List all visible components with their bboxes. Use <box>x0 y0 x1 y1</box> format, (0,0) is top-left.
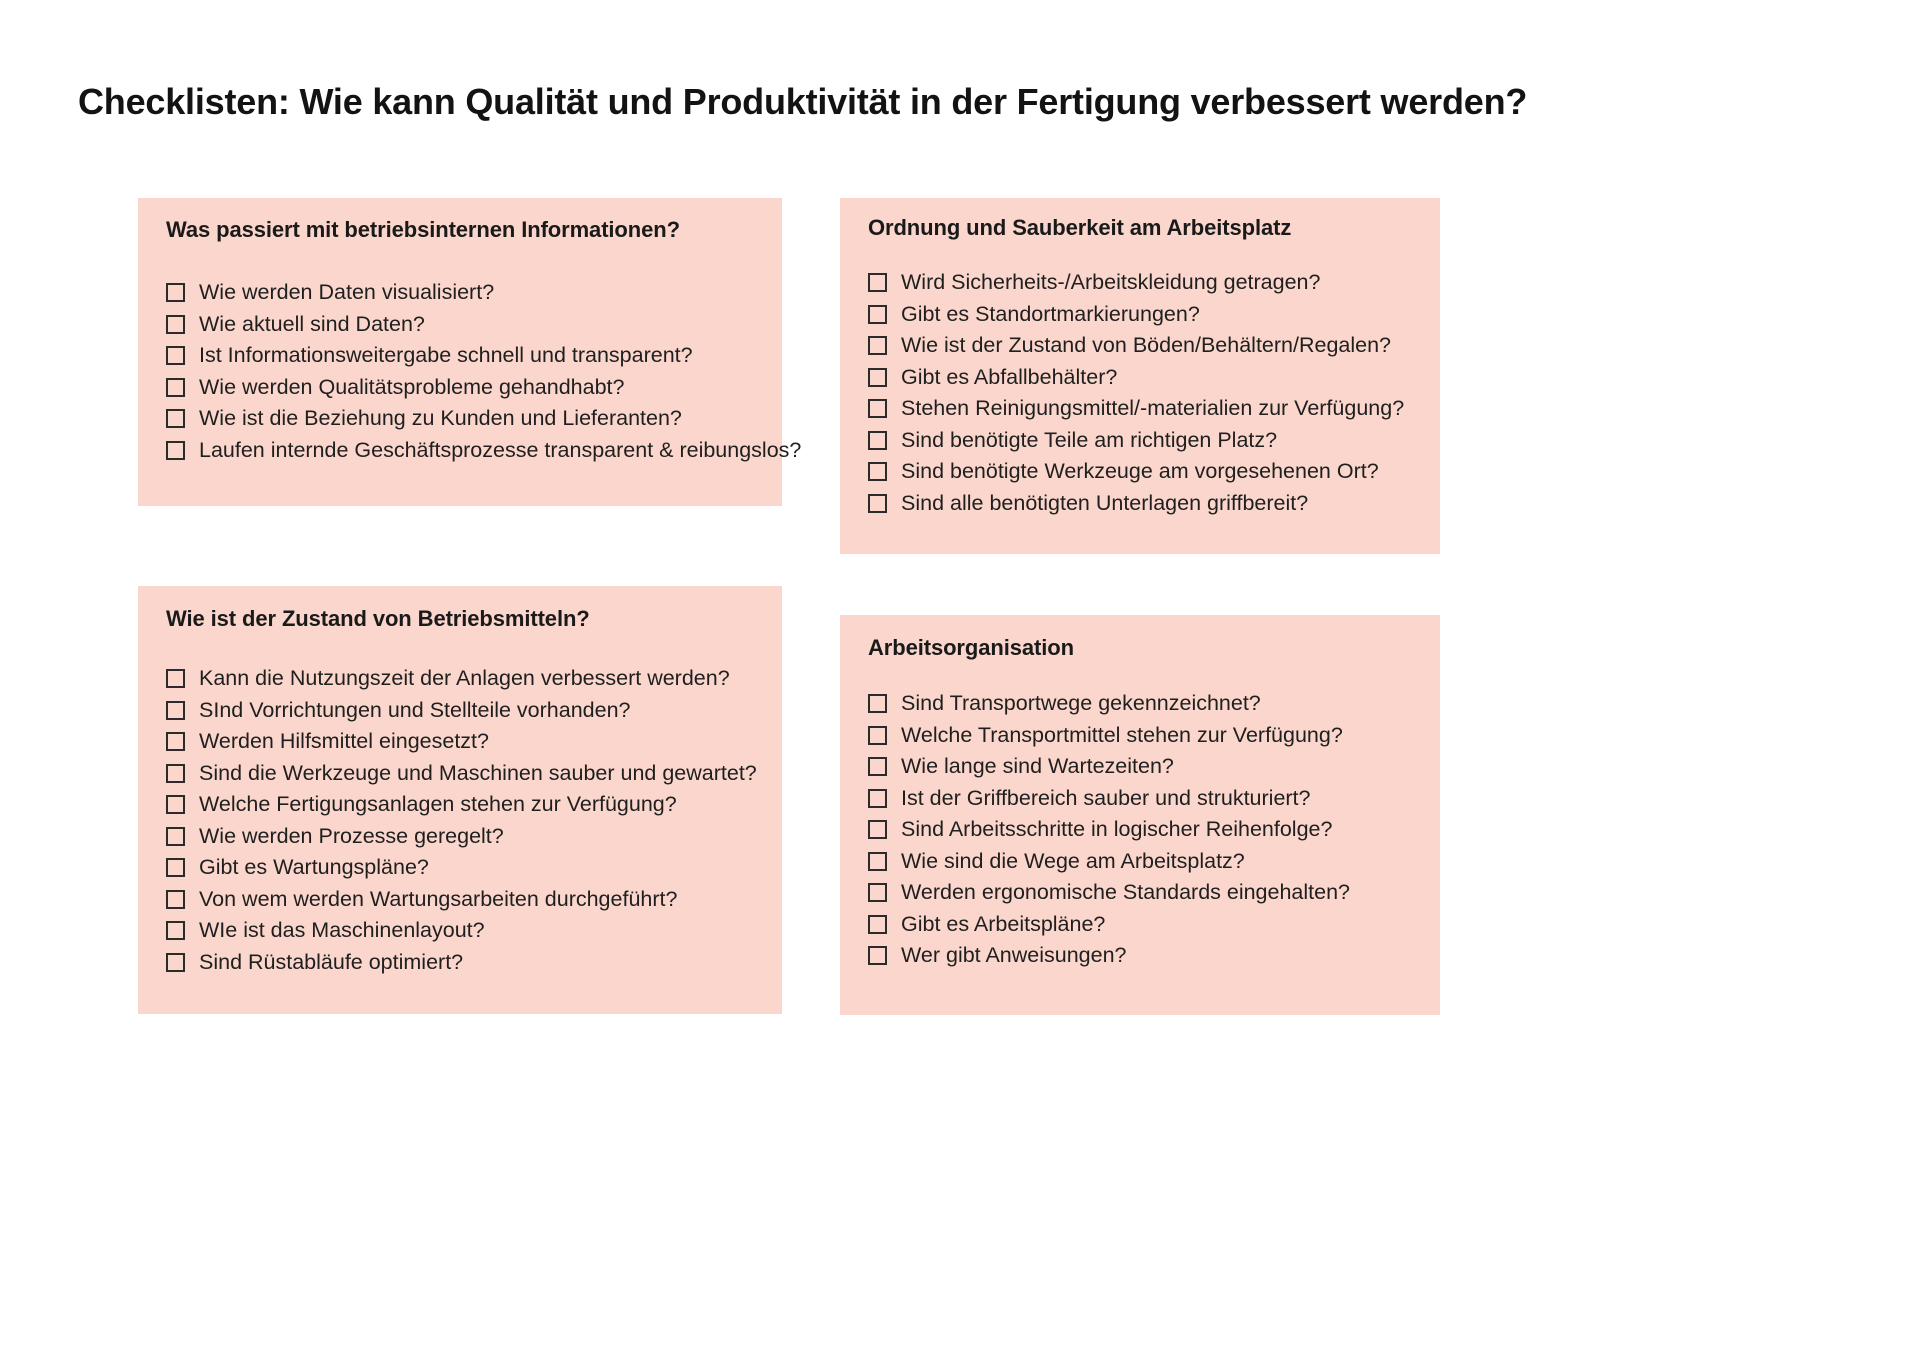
checkbox-icon[interactable] <box>868 399 887 418</box>
checkbox-icon[interactable] <box>868 757 887 776</box>
checklist-item-label: SInd Vorrichtungen und Stellteile vorhan… <box>199 698 631 722</box>
checklist-item[interactable]: Wie ist der Zustand von Böden/Behältern/… <box>868 333 1404 357</box>
checklist-items-information: Wie werden Daten visualisiert? Wie aktue… <box>166 280 801 469</box>
checklist-item[interactable]: Wie aktuell sind Daten? <box>166 312 801 336</box>
checklist-item-label: Wie ist die Beziehung zu Kunden und Lief… <box>199 406 682 430</box>
checklist-item-label: Welche Transportmittel stehen zur Verfüg… <box>901 723 1343 747</box>
checklist-item-label: Wie werden Qualitätsprobleme gehandhabt? <box>199 375 625 399</box>
checkbox-icon[interactable] <box>166 795 185 814</box>
checklist-item-label: Werden Hilfsmittel eingesetzt? <box>199 729 489 753</box>
checkbox-icon[interactable] <box>166 315 185 334</box>
checklist-item[interactable]: Wie werden Qualitätsprobleme gehandhabt? <box>166 375 801 399</box>
checklist-item-label: Sind Transportwege gekennzeichnet? <box>901 691 1261 715</box>
checklist-items-work-organisation: Sind Transportwege gekennzeichnet? Welch… <box>868 691 1350 975</box>
checklist-item-label: Sind Rüstabläufe optimiert? <box>199 950 463 974</box>
checklist-item-label: Wie werden Daten visualisiert? <box>199 280 494 304</box>
checklist-item-label: Sind benötigte Teile am richtigen Platz? <box>901 428 1277 452</box>
checklist-item[interactable]: Wie werden Daten visualisiert? <box>166 280 801 304</box>
checkbox-icon[interactable] <box>868 368 887 387</box>
checkbox-icon[interactable] <box>166 732 185 751</box>
checklist-item-label: Welche Fertigungsanlagen stehen zur Verf… <box>199 792 677 816</box>
checklist-item[interactable]: Werden ergonomische Standards eingehalte… <box>868 880 1350 904</box>
checkbox-icon[interactable] <box>166 701 185 720</box>
checklist-item[interactable]: Welche Fertigungsanlagen stehen zur Verf… <box>166 792 757 816</box>
checklist-item-label: Werden ergonomische Standards eingehalte… <box>901 880 1350 904</box>
checklist-items-order-cleanliness: Wird Sicherheits-/Arbeitskleidung getrag… <box>868 270 1404 522</box>
checklist-item[interactable]: Sind alle benötigten Unterlagen griffber… <box>868 491 1404 515</box>
checklist-item-label: Sind Arbeitsschritte in logischer Reihen… <box>901 817 1332 841</box>
checklist-item-label: Sind benötigte Werkzeuge am vorgesehenen… <box>901 459 1379 483</box>
checkbox-icon[interactable] <box>868 694 887 713</box>
checkbox-icon[interactable] <box>166 827 185 846</box>
checkbox-icon[interactable] <box>166 858 185 877</box>
checklist-item[interactable]: Gibt es Standortmarkierungen? <box>868 302 1404 326</box>
checklist-item[interactable]: Sind benötigte Werkzeuge am vorgesehenen… <box>868 459 1404 483</box>
checklist-item-label: Wie aktuell sind Daten? <box>199 312 425 336</box>
checklist-item-label: Wie ist der Zustand von Böden/Behältern/… <box>901 333 1391 357</box>
checklist-item[interactable]: Sind Arbeitsschritte in logischer Reihen… <box>868 817 1350 841</box>
checklist-item[interactable]: Gibt es Abfallbehälter? <box>868 365 1404 389</box>
checklist-item-label: Von wem werden Wartungsarbeiten durchgef… <box>199 887 677 911</box>
checklist-item[interactable]: Gibt es Arbeitspläne? <box>868 912 1350 936</box>
checkbox-icon[interactable] <box>868 915 887 934</box>
checkbox-icon[interactable] <box>166 409 185 428</box>
checklist-card-equipment: Wie ist der Zustand von Betriebsmitteln?… <box>138 586 782 1014</box>
checklist-item[interactable]: Stehen Reinigungsmittel/-materialien zur… <box>868 396 1404 420</box>
checklist-item-label: WIe ist das Maschinenlayout? <box>199 918 485 942</box>
checklist-item-label: Ist Informationsweitergabe schnell und t… <box>199 343 693 367</box>
card-title-work-organisation: Arbeitsorganisation <box>868 635 1074 661</box>
checkbox-icon[interactable] <box>868 431 887 450</box>
checklist-item[interactable]: Sind Transportwege gekennzeichnet? <box>868 691 1350 715</box>
checklist-item-label: Gibt es Arbeitspläne? <box>901 912 1105 936</box>
checklist-card-order-cleanliness: Ordnung und Sauberkeit am Arbeitsplatz W… <box>840 198 1440 554</box>
checklist-item[interactable]: Sind benötigte Teile am richtigen Platz? <box>868 428 1404 452</box>
checklist-item-label: Stehen Reinigungsmittel/-materialien zur… <box>901 396 1404 420</box>
checklist-item[interactable]: Ist Informationsweitergabe schnell und t… <box>166 343 801 367</box>
checkbox-icon[interactable] <box>868 273 887 292</box>
checkbox-icon[interactable] <box>166 764 185 783</box>
checkbox-icon[interactable] <box>166 669 185 688</box>
checklist-item-label: Sind die Werkzeuge und Maschinen sauber … <box>199 761 757 785</box>
checklist-item-label: Wie sind die Wege am Arbeitsplatz? <box>901 849 1245 873</box>
checklist-item[interactable]: Welche Transportmittel stehen zur Verfüg… <box>868 723 1350 747</box>
checklist-item-label: Gibt es Standortmarkierungen? <box>901 302 1200 326</box>
checkbox-icon[interactable] <box>868 305 887 324</box>
card-title-order-cleanliness: Ordnung und Sauberkeit am Arbeitsplatz <box>868 215 1291 241</box>
checkbox-icon[interactable] <box>166 346 185 365</box>
checklist-item-label: Wird Sicherheits-/Arbeitskleidung getrag… <box>901 270 1320 294</box>
checkbox-icon[interactable] <box>868 789 887 808</box>
checklist-item[interactable]: Von wem werden Wartungsarbeiten durchgef… <box>166 887 757 911</box>
checklist-item[interactable]: Wie werden Prozesse geregelt? <box>166 824 757 848</box>
checkbox-icon[interactable] <box>166 953 185 972</box>
checkbox-icon[interactable] <box>166 890 185 909</box>
checklist-items-equipment: Kann die Nutzungszeit der Anlagen verbes… <box>166 666 757 981</box>
checklist-item[interactable]: Sind die Werkzeuge und Maschinen sauber … <box>166 761 757 785</box>
checkbox-icon[interactable] <box>868 883 887 902</box>
checkbox-icon[interactable] <box>868 726 887 745</box>
checkbox-icon[interactable] <box>868 462 887 481</box>
card-title-equipment: Wie ist der Zustand von Betriebsmitteln? <box>166 606 590 632</box>
checklist-item-label: Ist der Griffbereich sauber und struktur… <box>901 786 1311 810</box>
checklist-item-label: Wie werden Prozesse geregelt? <box>199 824 504 848</box>
checklist-item[interactable]: Wie sind die Wege am Arbeitsplatz? <box>868 849 1350 873</box>
checklist-page: Checklisten: Wie kann Qualität und Produ… <box>0 0 1920 1358</box>
checklist-item-label: Gibt es Wartungspläne? <box>199 855 429 879</box>
checklist-item[interactable]: Sind Rüstabläufe optimiert? <box>166 950 757 974</box>
checkbox-icon[interactable] <box>868 336 887 355</box>
checklist-item[interactable]: Werden Hilfsmittel eingesetzt? <box>166 729 757 753</box>
checkbox-icon[interactable] <box>166 921 185 940</box>
checklist-item[interactable]: Ist der Griffbereich sauber und struktur… <box>868 786 1350 810</box>
checklist-item-label: Wie lange sind Wartezeiten? <box>901 754 1174 778</box>
checkbox-icon[interactable] <box>868 946 887 965</box>
checklist-item[interactable]: Wie lange sind Wartezeiten? <box>868 754 1350 778</box>
checkbox-icon[interactable] <box>868 820 887 839</box>
checklist-item[interactable]: Wie ist die Beziehung zu Kunden und Lief… <box>166 406 801 430</box>
page-title: Checklisten: Wie kann Qualität und Produ… <box>78 81 1527 123</box>
checkbox-icon[interactable] <box>166 378 185 397</box>
checklist-item[interactable]: Wird Sicherheits-/Arbeitskleidung getrag… <box>868 270 1404 294</box>
card-title-information: Was passiert mit betriebsinternen Inform… <box>166 217 680 243</box>
checklist-card-information: Was passiert mit betriebsinternen Inform… <box>138 198 782 506</box>
checkbox-icon[interactable] <box>166 283 185 302</box>
checklist-item-label: Wer gibt Anweisungen? <box>901 943 1127 967</box>
checklist-item[interactable]: Wer gibt Anweisungen? <box>868 943 1350 967</box>
checkbox-icon[interactable] <box>166 441 185 460</box>
checkbox-icon[interactable] <box>868 494 887 513</box>
checklist-item-label: Gibt es Abfallbehälter? <box>901 365 1117 389</box>
checklist-item-label: Kann die Nutzungszeit der Anlagen verbes… <box>199 666 730 690</box>
checklist-item[interactable]: Gibt es Wartungspläne? <box>166 855 757 879</box>
checklist-item-label: Laufen internde Geschäftsprozesse transp… <box>199 438 801 462</box>
checkbox-icon[interactable] <box>868 852 887 871</box>
checklist-item[interactable]: SInd Vorrichtungen und Stellteile vorhan… <box>166 698 757 722</box>
checklist-item[interactable]: WIe ist das Maschinenlayout? <box>166 918 757 942</box>
checklist-item-label: Sind alle benötigten Unterlagen griffber… <box>901 491 1308 515</box>
checklist-card-work-organisation: Arbeitsorganisation Sind Transportwege g… <box>840 615 1440 1015</box>
checklist-item[interactable]: Laufen internde Geschäftsprozesse transp… <box>166 438 801 462</box>
checklist-item[interactable]: Kann die Nutzungszeit der Anlagen verbes… <box>166 666 757 690</box>
